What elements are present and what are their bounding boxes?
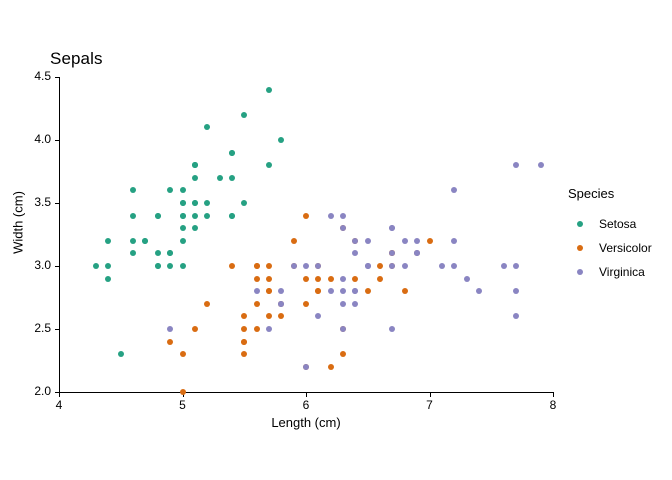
data-point <box>155 263 161 269</box>
data-point <box>377 276 383 282</box>
data-point <box>93 263 99 269</box>
legend-entry-versicolor[interactable]: Versicolor <box>568 236 652 260</box>
y-axis-tick-label: 4.0 <box>17 132 51 146</box>
y-axis-tick-label: 2.5 <box>17 321 51 335</box>
data-point <box>464 276 470 282</box>
x-axis-tick-label: 8 <box>538 398 568 412</box>
data-point <box>303 276 309 282</box>
legend-entry-setosa[interactable]: Setosa <box>568 212 652 236</box>
data-point <box>328 288 334 294</box>
legend-swatch-icon <box>577 269 583 275</box>
data-point <box>303 213 309 219</box>
data-point <box>192 213 198 219</box>
data-point <box>328 213 334 219</box>
data-point <box>229 175 235 181</box>
data-point <box>303 263 309 269</box>
data-point <box>180 200 186 206</box>
data-point <box>402 263 408 269</box>
data-point <box>365 288 371 294</box>
data-point <box>254 301 260 307</box>
data-point <box>427 238 433 244</box>
data-point <box>130 238 136 244</box>
data-point <box>365 238 371 244</box>
legend: Species SetosaVersicolorVirginica <box>568 186 652 284</box>
legend-entries: SetosaVersicolorVirginica <box>568 212 652 284</box>
y-axis-tick-label: 4.5 <box>17 69 51 83</box>
x-axis-tick-label: 4 <box>44 398 74 412</box>
legend-title: Species <box>568 186 652 201</box>
x-axis-tick <box>553 393 554 397</box>
legend-entry-label: Virginica <box>599 265 645 279</box>
data-point <box>180 187 186 193</box>
data-point <box>538 162 544 168</box>
data-point <box>155 213 161 219</box>
legend-entry-virginica[interactable]: Virginica <box>568 260 652 284</box>
data-point <box>303 364 309 370</box>
data-point <box>291 238 297 244</box>
data-point <box>340 301 346 307</box>
data-point <box>513 263 519 269</box>
data-point <box>402 238 408 244</box>
data-point <box>266 326 272 332</box>
data-point <box>340 326 346 332</box>
x-axis-tick-label: 7 <box>415 398 445 412</box>
legend-entry-label: Setosa <box>599 217 636 231</box>
data-point <box>266 276 272 282</box>
x-axis-tick-label: 6 <box>291 398 321 412</box>
data-point <box>266 87 272 93</box>
data-point <box>254 288 260 294</box>
data-point <box>229 263 235 269</box>
x-axis-tick <box>430 393 431 397</box>
x-axis-tick <box>306 393 307 397</box>
plot-area <box>59 70 553 392</box>
data-point <box>315 276 321 282</box>
data-point <box>192 175 198 181</box>
data-point <box>180 238 186 244</box>
data-point <box>303 301 309 307</box>
data-point <box>229 213 235 219</box>
data-point <box>266 263 272 269</box>
x-axis-title: Length (cm) <box>0 415 612 430</box>
data-point <box>192 225 198 231</box>
data-point <box>365 263 371 269</box>
data-point <box>451 238 457 244</box>
data-point <box>192 326 198 332</box>
data-point <box>204 213 210 219</box>
data-point <box>180 263 186 269</box>
data-point <box>501 263 507 269</box>
x-axis-tick-label: 5 <box>168 398 198 412</box>
data-point <box>192 162 198 168</box>
data-point <box>254 276 260 282</box>
chart-root: Sepals 2.02.53.03.54.04.5 45678 Length (… <box>0 0 672 480</box>
data-point <box>291 263 297 269</box>
data-point <box>340 213 346 219</box>
y-axis-title: Width (cm) <box>11 173 26 273</box>
legend-swatch-icon <box>577 245 583 251</box>
data-point <box>180 213 186 219</box>
data-point <box>204 301 210 307</box>
data-point <box>180 351 186 357</box>
data-point <box>328 276 334 282</box>
data-point <box>192 200 198 206</box>
data-point <box>439 263 445 269</box>
data-point <box>241 339 247 345</box>
x-axis-tick <box>59 393 60 397</box>
chart-title: Sepals <box>50 49 103 69</box>
legend-swatch-icon <box>577 221 583 227</box>
data-point <box>130 213 136 219</box>
data-point <box>229 150 235 156</box>
data-point <box>118 351 124 357</box>
y-axis-tick-label: 2.0 <box>17 384 51 398</box>
data-point <box>167 339 173 345</box>
data-point <box>328 364 334 370</box>
data-point <box>402 288 408 294</box>
data-point <box>254 263 260 269</box>
data-point <box>180 389 186 395</box>
legend-entry-label: Versicolor <box>599 241 652 255</box>
data-point <box>340 276 346 282</box>
data-point <box>217 175 223 181</box>
data-point <box>254 326 260 332</box>
data-point <box>414 238 420 244</box>
data-point <box>180 225 186 231</box>
